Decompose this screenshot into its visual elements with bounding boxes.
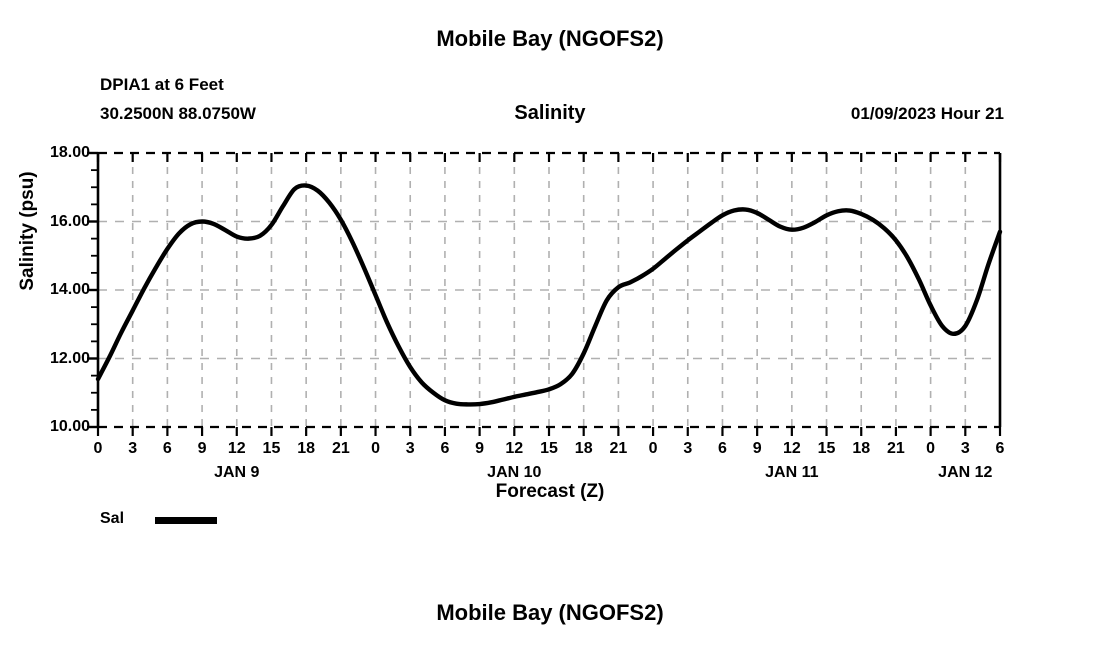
x-axis-tick-label: 12 [783,441,801,457]
x-axis-tick-label: 15 [540,441,558,457]
y-axis-tick-label: 10.00 [20,419,90,435]
axis-ticks [87,153,1000,436]
page-title-bottom: Mobile Bay (NGOFS2) [0,600,1100,626]
x-axis-tick-label: 0 [926,441,935,457]
legend-swatch-sal [155,517,217,524]
chart-svg [0,0,1100,650]
x-axis-title: Forecast (Z) [0,481,1100,503]
y-axis-tick-labels: 18.0016.0014.0012.0010.00 [18,0,90,650]
x-axis-tick-label: 6 [718,441,727,457]
gridlines [98,153,1000,427]
x-axis-tick-label: 3 [128,441,137,457]
x-axis-tick-label: 21 [887,441,905,457]
x-axis-day-label: JAN 12 [938,465,992,481]
x-axis-tick-label: 3 [961,441,970,457]
x-axis-tick-label: 9 [753,441,762,457]
x-axis-tick-label: 18 [575,441,593,457]
x-axis-tick-label: 15 [818,441,836,457]
y-axis-tick-label: 16.00 [20,214,90,230]
x-axis-tick-label: 21 [332,441,350,457]
legend-label-sal: Sal [100,510,124,528]
x-axis-tick-label: 3 [406,441,415,457]
y-axis-tick-label: 18.00 [20,145,90,161]
chart-plot-area: Salinity (psu) 18.0016.0014.0012.0010.00… [0,0,1100,650]
x-axis-tick-label: 6 [440,441,449,457]
x-axis-tick-label: 12 [505,441,523,457]
x-axis-tick-label: 6 [996,441,1005,457]
x-axis-tick-label: 0 [649,441,658,457]
x-axis-tick-label: 6 [163,441,172,457]
x-axis-tick-label: 18 [297,441,315,457]
x-axis-tick-label: 12 [228,441,246,457]
x-axis-tick-label: 9 [475,441,484,457]
x-axis-tick-label: 21 [609,441,627,457]
x-axis-tick-label: 0 [371,441,380,457]
x-axis-tick-label: 9 [198,441,207,457]
x-axis-day-label: JAN 11 [765,465,818,481]
x-axis-day-label: JAN 9 [214,465,259,481]
x-axis-tick-label: 0 [94,441,103,457]
x-axis-tick-label: 18 [852,441,870,457]
y-axis-tick-label: 14.00 [20,282,90,298]
y-axis-tick-label: 12.00 [20,351,90,367]
x-axis-day-label: JAN 10 [487,465,541,481]
x-axis-tick-label: 15 [263,441,281,457]
x-axis-tick-label: 3 [683,441,692,457]
